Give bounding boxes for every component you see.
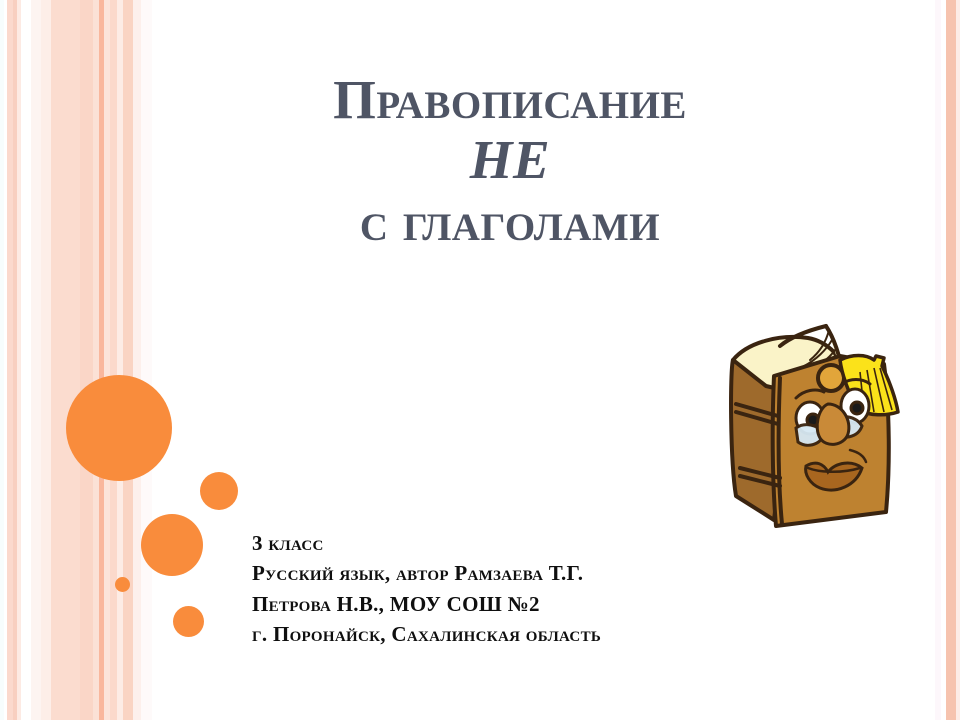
circle-decor-icon-small bbox=[173, 606, 204, 637]
circle-decor-icon-medium-a bbox=[200, 472, 238, 510]
page-title: Правописание НЕ с глаголами bbox=[200, 72, 820, 250]
book-icon bbox=[700, 300, 940, 530]
title-line-1: Правописание bbox=[200, 72, 820, 128]
credits-line-subject: Русский язык, автор Рамзаева Т.Г. bbox=[252, 558, 872, 588]
presentation-slide: Правописание НЕ с глаголами bbox=[0, 0, 960, 720]
credits-line-location: г. Поронайск, Сахалинская область bbox=[252, 619, 872, 649]
title-line-2: НЕ bbox=[200, 132, 820, 188]
title-line-3: с глаголами bbox=[200, 194, 820, 250]
credits-block: 3 класс Русский язык, автор Рамзаева Т.Г… bbox=[252, 528, 872, 650]
decorative-stripes-left bbox=[0, 0, 160, 720]
circle-decor-icon-tiny bbox=[115, 577, 130, 592]
circle-decor-icon-medium-b bbox=[141, 514, 203, 576]
credits-line-author: Петрова Н.В., МОУ СОШ №2 bbox=[252, 589, 872, 619]
circle-decor-icon-large bbox=[66, 375, 172, 481]
credits-line-class: 3 класс bbox=[252, 528, 872, 558]
